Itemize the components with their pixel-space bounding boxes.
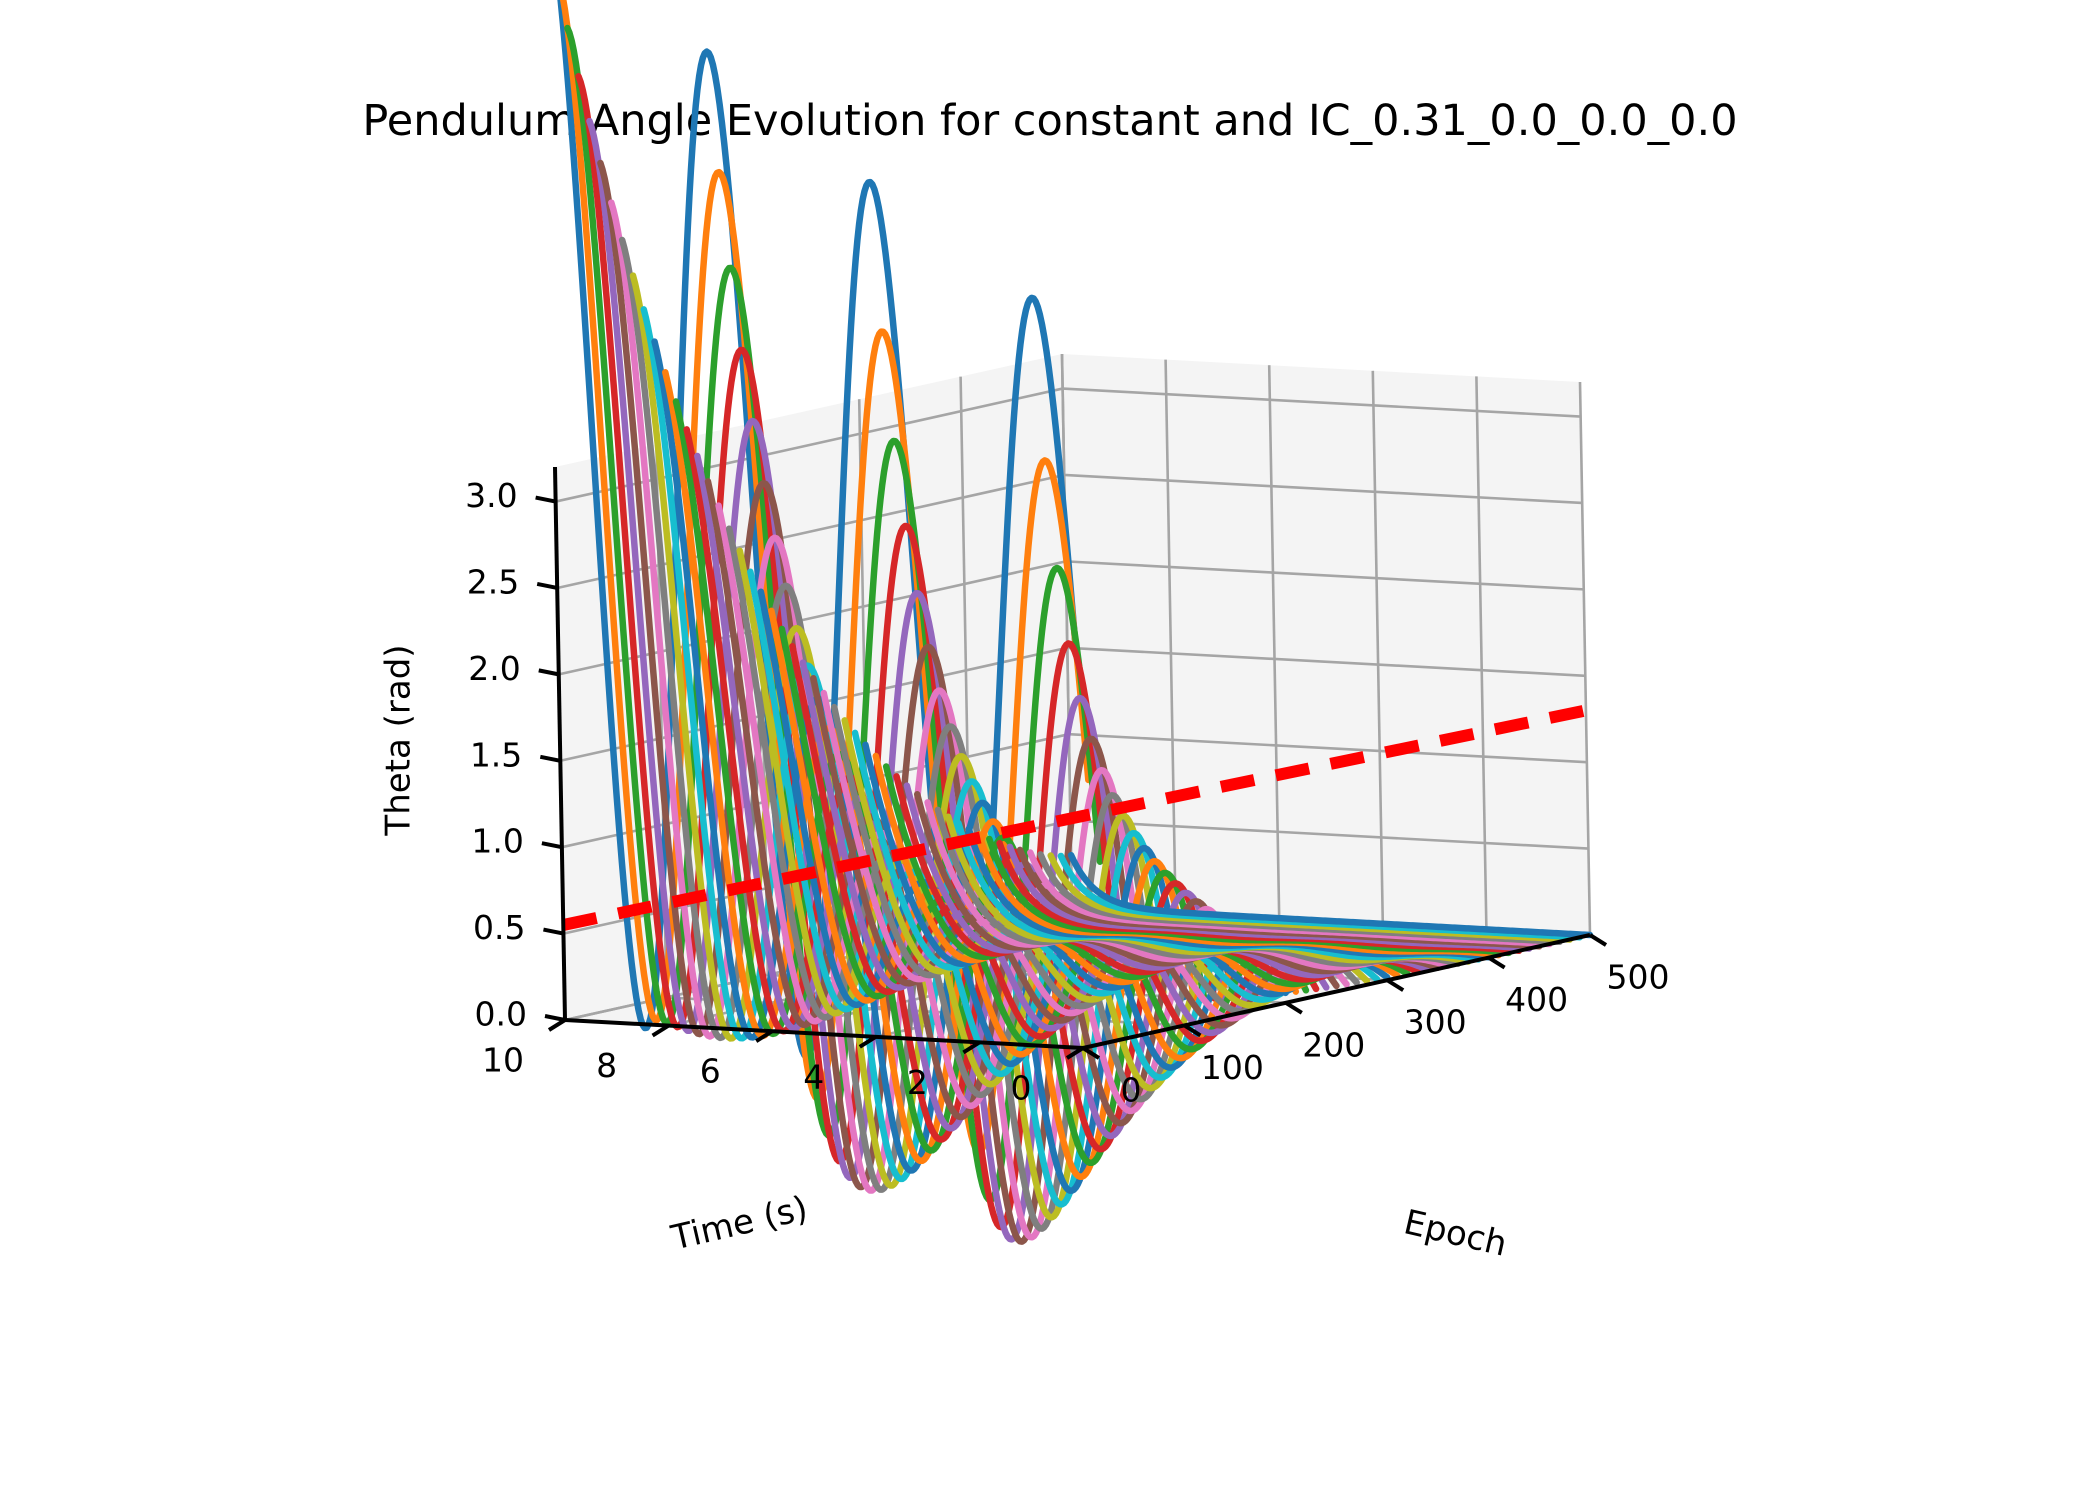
tick-label-theta: 0.5 bbox=[473, 908, 525, 947]
tick-label-time: 0 bbox=[1011, 1069, 1032, 1108]
tick-mark-epoch bbox=[1387, 980, 1403, 990]
tick-label-time: 10 bbox=[482, 1041, 524, 1080]
tick-label-epoch: 500 bbox=[1607, 958, 1670, 997]
tick-mark-theta bbox=[537, 584, 557, 588]
tick-mark-theta bbox=[542, 843, 562, 847]
axes-3d: 024681001002003004005000.00.51.01.52.02.… bbox=[0, 0, 2100, 1500]
tick-label-time: 2 bbox=[907, 1063, 928, 1102]
tick-label-time: 4 bbox=[803, 1057, 824, 1096]
tick-label-time: 8 bbox=[596, 1046, 617, 1085]
tick-mark-epoch bbox=[1489, 958, 1505, 968]
axis-title-time: Time (s) bbox=[667, 1188, 812, 1258]
tick-mark-theta bbox=[540, 757, 560, 761]
tick-mark-theta bbox=[543, 930, 563, 934]
tick-mark-theta bbox=[539, 670, 559, 674]
tick-mark-epoch bbox=[1590, 935, 1606, 945]
axis-title-theta: Theta (rad) bbox=[379, 644, 419, 836]
tick-label-theta: 2.5 bbox=[467, 562, 519, 601]
figure-canvas: Pendulum Angle Evolution for constant an… bbox=[0, 0, 2100, 1500]
tick-label-theta: 1.0 bbox=[471, 822, 523, 861]
tick-label-theta: 0.0 bbox=[475, 995, 527, 1034]
tick-mark-epoch bbox=[1286, 1003, 1302, 1013]
tick-label-epoch: 200 bbox=[1302, 1025, 1365, 1064]
tick-label-theta: 3.0 bbox=[465, 476, 517, 515]
tick-label-epoch: 0 bbox=[1121, 1071, 1142, 1110]
tick-label-epoch: 100 bbox=[1201, 1048, 1264, 1087]
tick-mark-theta bbox=[536, 498, 556, 502]
tick-label-theta: 2.0 bbox=[468, 649, 520, 688]
axis-title-epoch: Epoch bbox=[1400, 1202, 1510, 1264]
tick-label-epoch: 300 bbox=[1404, 1003, 1467, 1042]
tick-label-time: 6 bbox=[700, 1052, 721, 1091]
tick-label-theta: 1.5 bbox=[470, 735, 522, 774]
tick-mark-theta bbox=[545, 1016, 565, 1020]
tick-label-epoch: 400 bbox=[1505, 980, 1568, 1019]
